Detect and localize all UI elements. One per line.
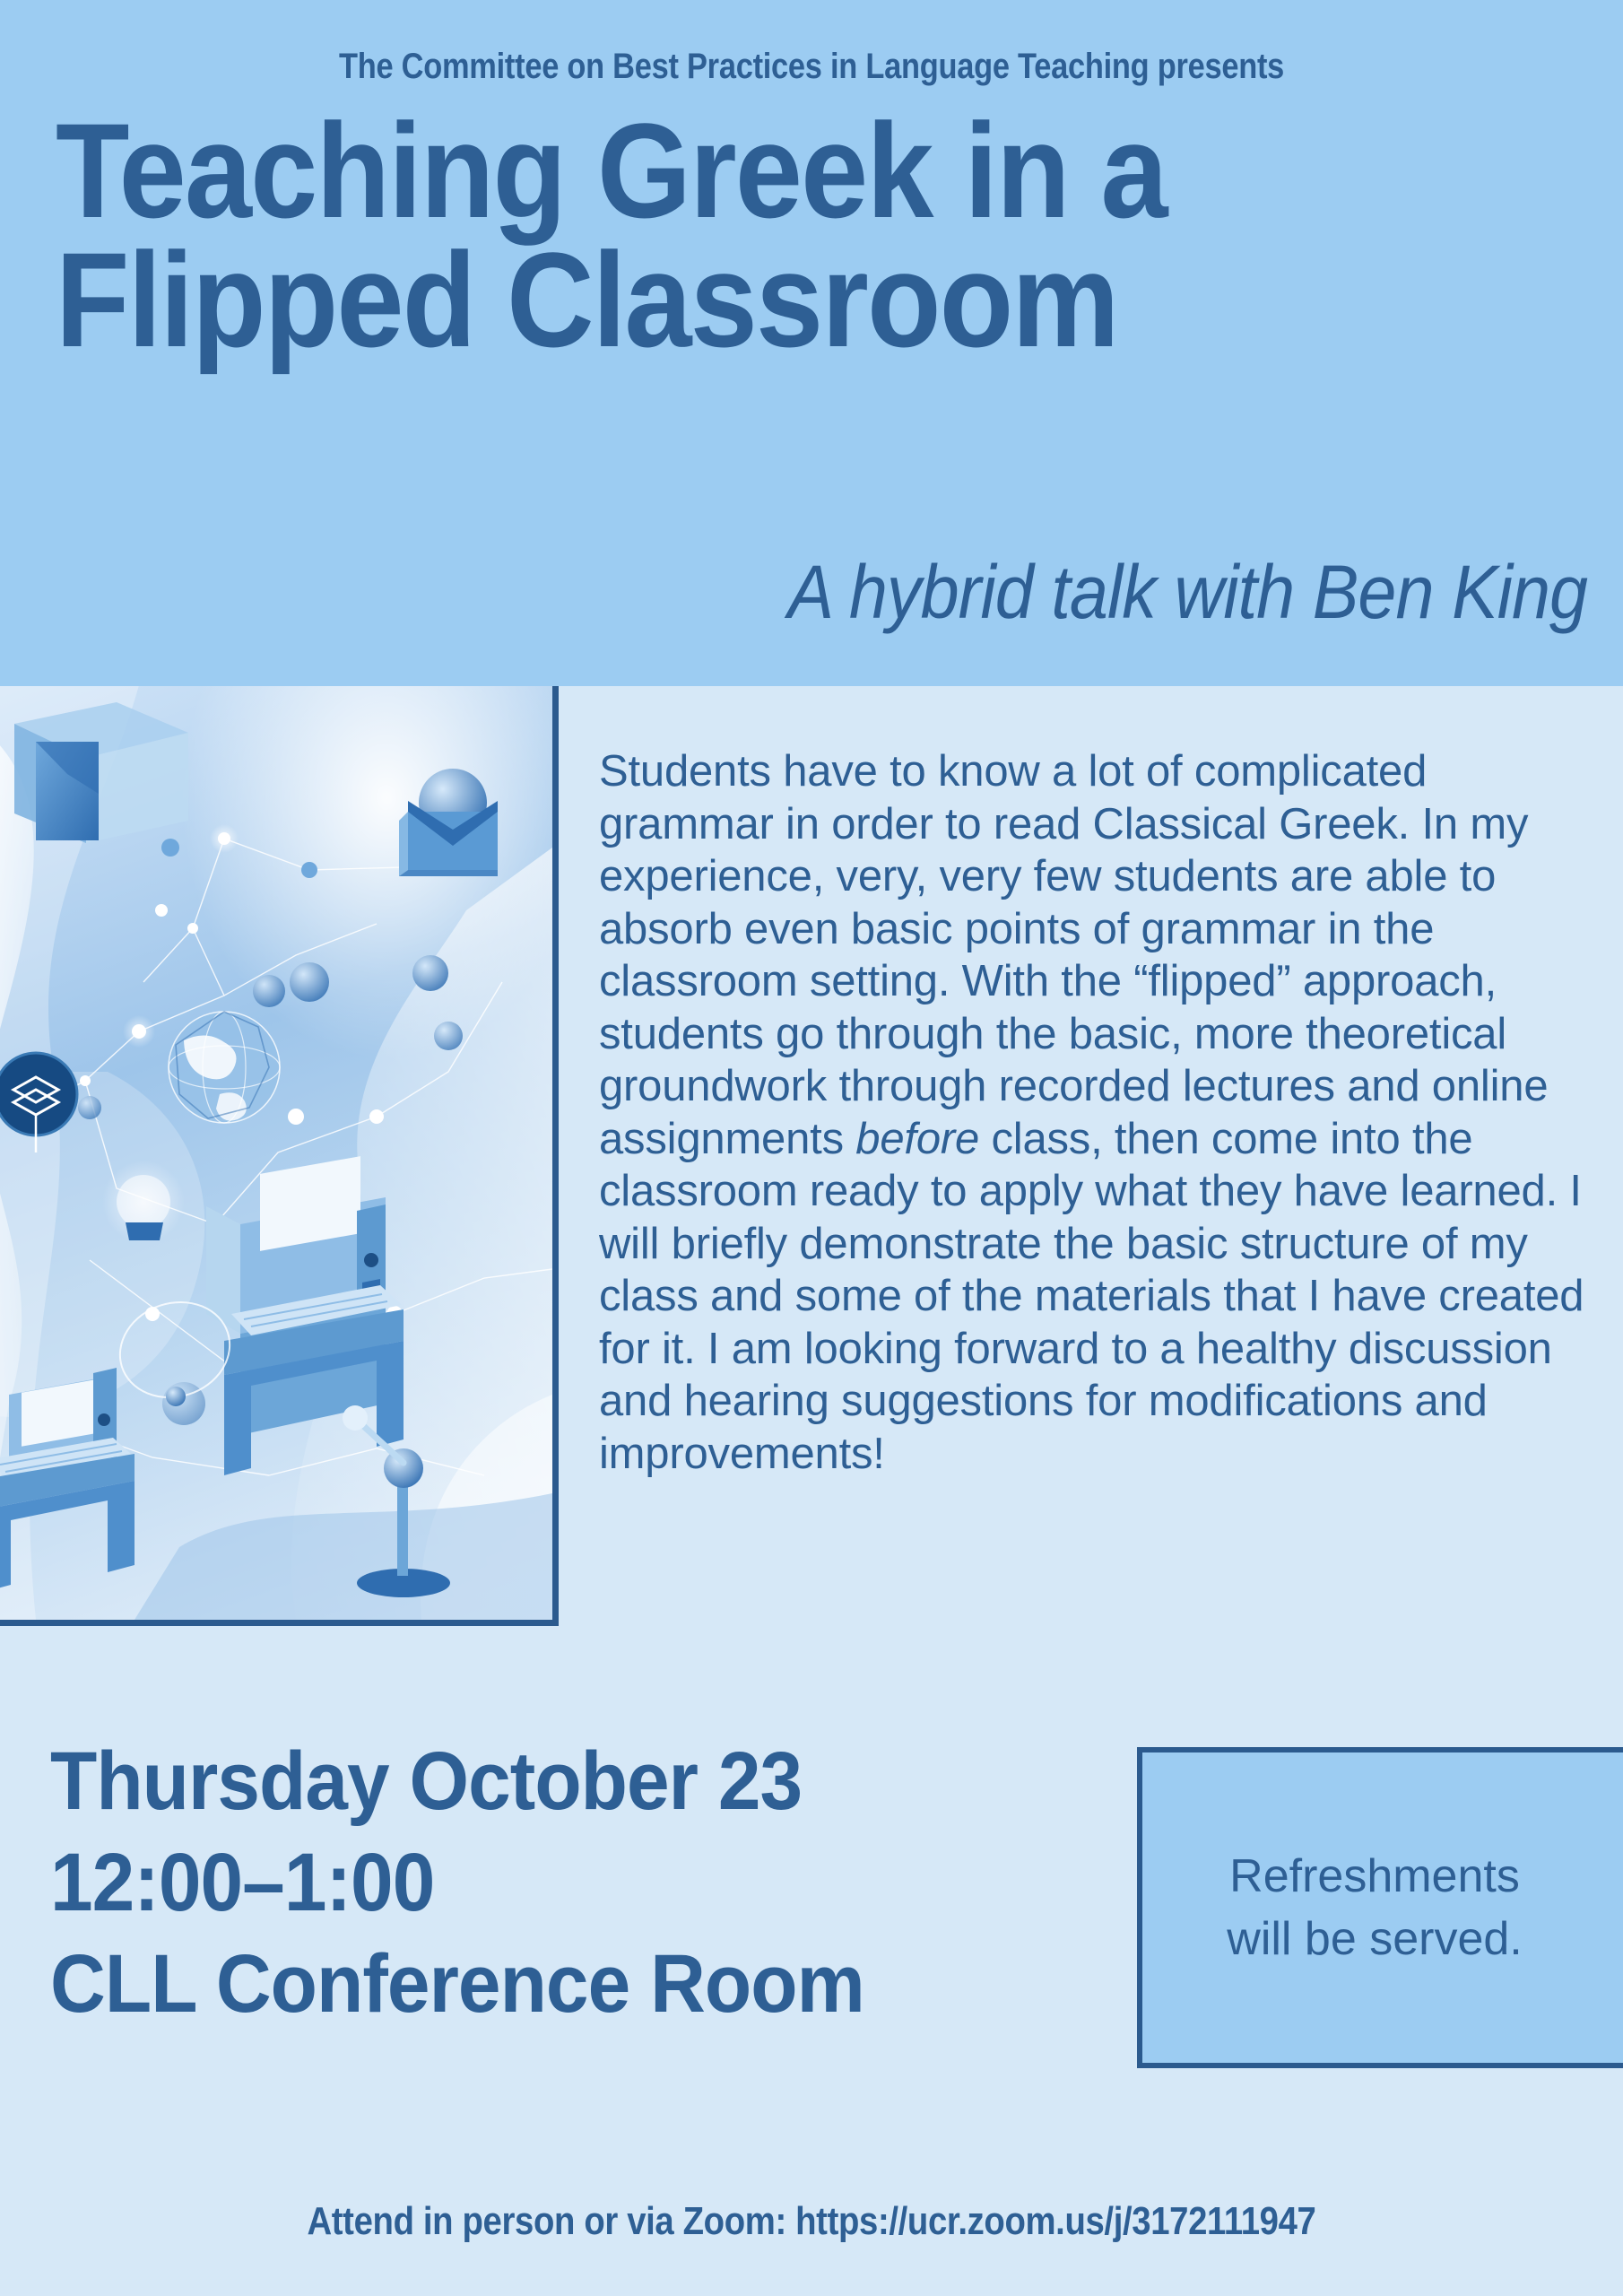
event-location: CLL Conference Room <box>50 1934 1034 2035</box>
body-emphasis: before <box>855 1115 979 1163</box>
refreshments-line-1: Refreshments <box>1142 1845 1607 1908</box>
event-details: Thursday October 23 12:00–1:00 CLL Confe… <box>50 1731 1108 2035</box>
globe-icon <box>169 1012 280 1123</box>
cube-icon <box>14 702 188 843</box>
subtitle: A hybrid talk with Ben King <box>787 549 1587 636</box>
envelope-icon <box>399 769 498 876</box>
body-paragraph: Students have to know a lot of complicat… <box>599 745 1594 1480</box>
body-part-1: Students have to know a lot of complicat… <box>599 747 1548 1163</box>
presenter-line: The Committee on Best Practices in Langu… <box>114 47 1510 87</box>
illustration-svg <box>0 686 552 1620</box>
refreshments-line-2: will be served. <box>1142 1908 1607 1970</box>
title-line-1: Teaching Greek in a <box>56 106 1428 235</box>
event-time: 12:00–1:00 <box>50 1832 1034 1934</box>
bulb-icon <box>102 1161 185 1243</box>
footer-zoom-link[interactable]: Attend in person or via Zoom: https://uc… <box>106 2199 1518 2244</box>
title-line-2: Flipped Classroom <box>56 235 1428 364</box>
refreshments-callout: Refreshments will be served. <box>1137 1747 1623 2068</box>
event-date: Thursday October 23 <box>50 1731 1034 1832</box>
body-part-2: class, then come into the classroom read… <box>599 1115 1584 1478</box>
refreshments-text: Refreshments will be served. <box>1142 1845 1623 1970</box>
page-title: Teaching Greek in a Flipped Classroom <box>56 106 1580 364</box>
illustration-image <box>0 686 559 1626</box>
